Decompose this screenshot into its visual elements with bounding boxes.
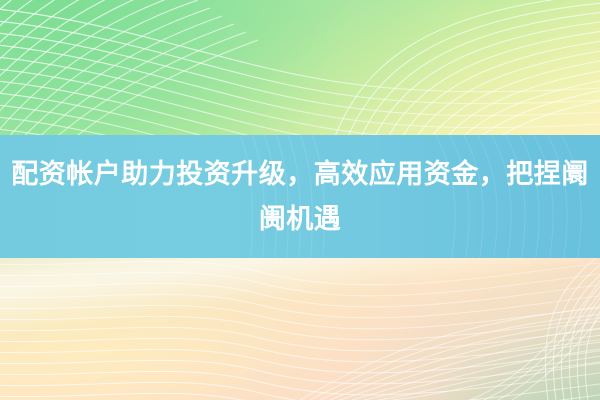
page-title: 配资帐户助力投资升级，高效应用资金，把捏阛阓机遇: [0, 152, 600, 242]
promo-banner: 配资帐户助力投资升级，高效应用资金，把捏阛阓机遇: [0, 0, 600, 400]
headline-band: 配资帐户助力投资升级，高效应用资金，把捏阛阓机遇: [0, 135, 600, 258]
